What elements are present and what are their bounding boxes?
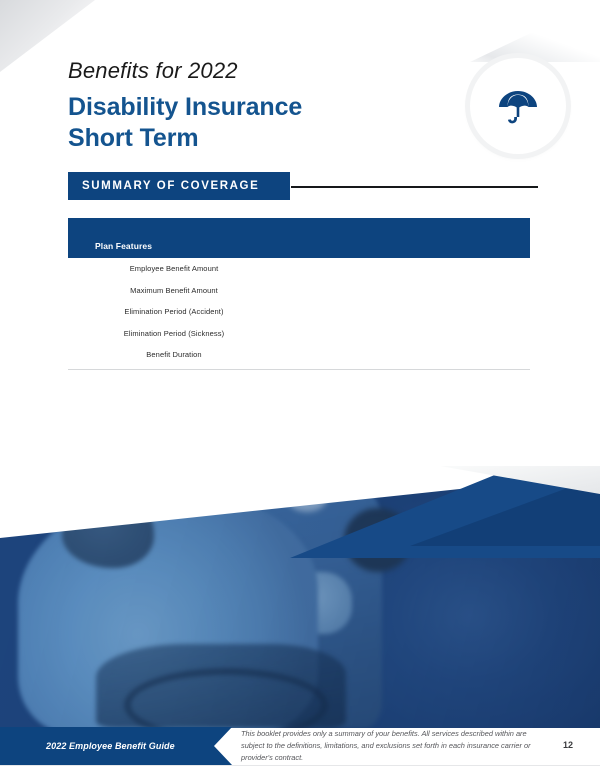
section-heading-rule [291, 186, 538, 188]
table-cell-feature: Maximum Benefit Amount [68, 286, 280, 295]
table-row: Elimination Period (Sickness) [68, 323, 530, 345]
table-column-header-plan-features: Plan Features [68, 241, 152, 258]
document-page: Benefits for 2022 Disability Insurance S… [0, 0, 600, 776]
table-row: Maximum Benefit Amount [68, 280, 530, 302]
table-row: Elimination Period (Accident) [68, 301, 530, 323]
footer-guide-banner: 2022 Employee Benefit Guide [0, 727, 232, 765]
umbrella-badge [470, 58, 566, 154]
table-cell-feature: Benefit Duration [68, 350, 280, 359]
page-number: 12 [563, 740, 573, 750]
umbrella-icon [495, 83, 541, 129]
coverage-table: Plan Features Employee Benefit Amount Ma… [68, 218, 530, 370]
table-cell-feature: Elimination Period (Sickness) [68, 329, 280, 338]
section-heading-bar: SUMMARY OF COVERAGE [68, 172, 290, 200]
footer-rule [0, 765, 600, 766]
page-title: Disability Insurance Short Term [68, 92, 302, 155]
footer-disclaimer: This booklet provides only a summary of … [241, 728, 536, 764]
table-row: Employee Benefit Amount [68, 258, 530, 280]
table-row: Benefit Duration [68, 344, 530, 366]
table-bottom-rule [68, 369, 530, 370]
table-cell-feature: Employee Benefit Amount [68, 264, 280, 273]
section-heading-label: SUMMARY OF COVERAGE [68, 180, 259, 192]
footer-guide-label: 2022 Employee Benefit Guide [0, 741, 175, 751]
table-cell-feature: Elimination Period (Accident) [68, 307, 280, 316]
corner-fold-top-right [470, 0, 600, 62]
table-header-row: Plan Features [68, 218, 530, 258]
page-eyebrow: Benefits for 2022 [68, 58, 238, 84]
photo-block [0, 466, 600, 728]
